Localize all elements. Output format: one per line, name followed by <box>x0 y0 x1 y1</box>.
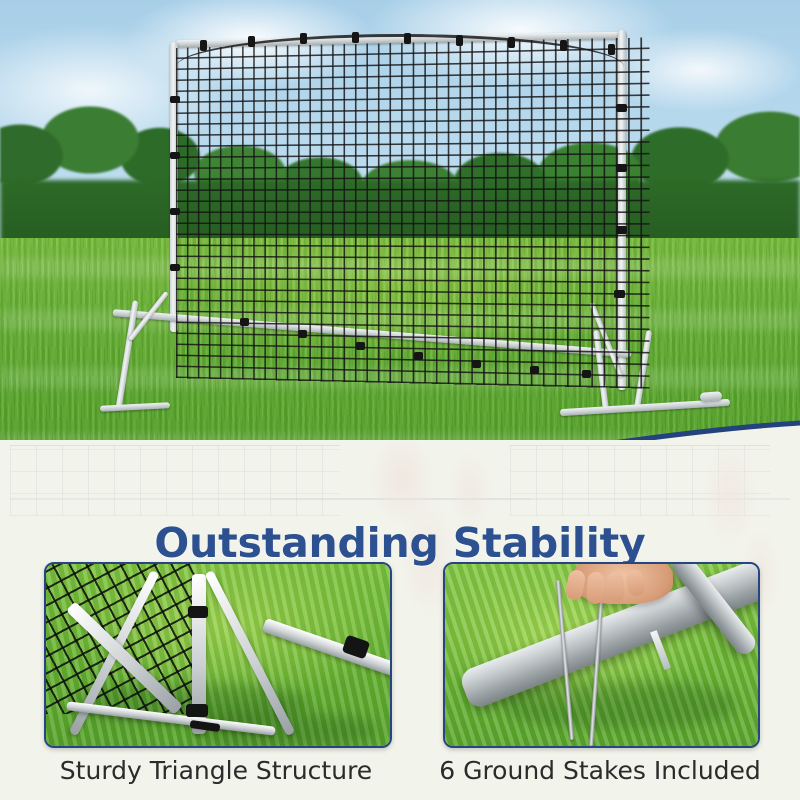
rebounder-net-mesh <box>176 37 649 388</box>
page-title: Outstanding Stability <box>0 519 800 567</box>
feature-caption-triangle-structure: Sturdy Triangle Structure <box>44 756 388 785</box>
feature-caption-ground-stakes: 6 Ground Stakes Included <box>420 756 780 785</box>
feature-photo-triangle-structure <box>44 562 392 748</box>
product-feature-poster: Outstanding Stability <box>0 0 800 800</box>
feature-photo-ground-stakes <box>443 562 760 748</box>
